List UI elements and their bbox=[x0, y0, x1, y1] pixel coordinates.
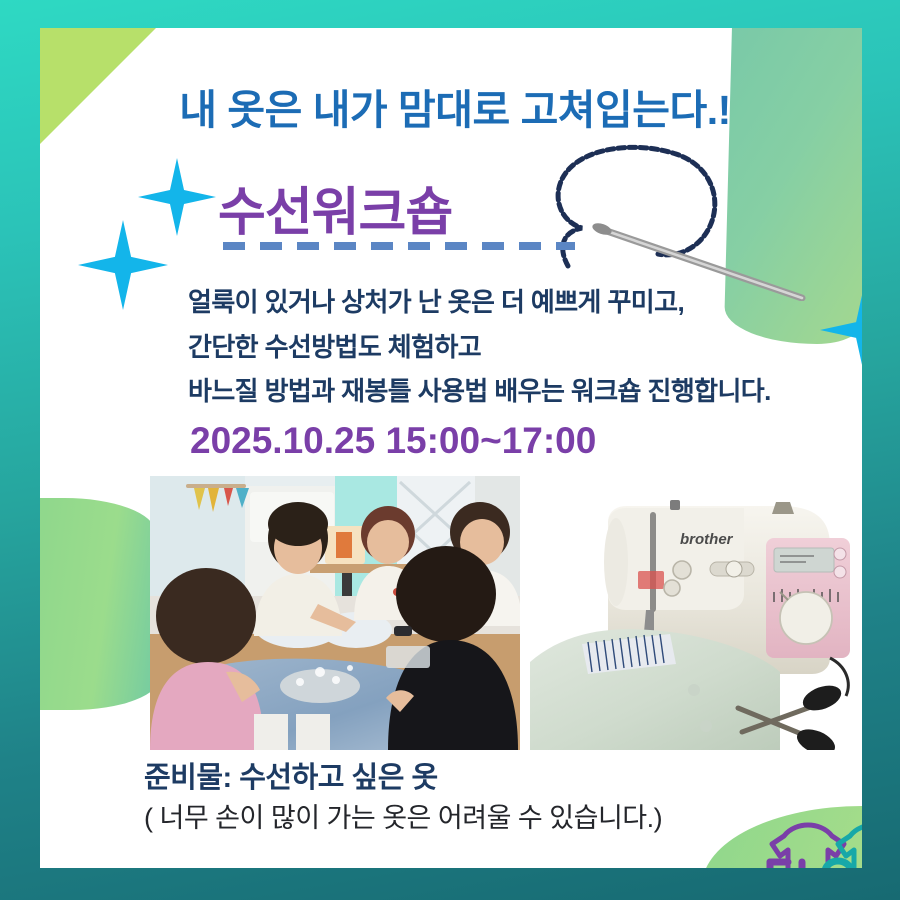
sparkle-star-icon bbox=[78, 220, 168, 310]
svg-text:brother: brother bbox=[680, 531, 734, 548]
description-block: 얼룩이 있거나 상처가 난 옷은 더 예쁘게 꾸미고, 간단한 수선방법도 체험… bbox=[188, 280, 862, 414]
workshop-participants-photo bbox=[150, 476, 520, 750]
poster-subtitle: 수선워크숍 bbox=[218, 170, 452, 245]
poster-root: 내 옷은 내가 맘대로 고쳐입는다.! 수선워크숍 얼룩이 있거나 상처가 난 … bbox=[0, 0, 900, 900]
green-band-left bbox=[40, 498, 162, 710]
needle-and-thread-icon bbox=[540, 136, 830, 301]
poster-card: 내 옷은 내가 맘대로 고쳐입는다.! 수선워크숍 얼룩이 있거나 상처가 난 … bbox=[40, 28, 862, 868]
preparation-sub-note: ( 너무 손이 많이 가는 옷은 어려울 수 있습니다.) bbox=[144, 796, 662, 835]
page-title: 내 옷은 내가 맘대로 고쳐입는다.! bbox=[95, 76, 815, 136]
event-datetime: 2025.10.25 15:00~17:00 bbox=[190, 420, 596, 462]
sparkle-star-icon bbox=[138, 158, 216, 236]
sewing-machine-photo: brother bbox=[530, 476, 860, 750]
description-line: 얼룩이 있거나 상처가 난 옷은 더 예쁘게 꾸미고, bbox=[188, 280, 862, 325]
preparation-note: 준비물: 수선하고 싶은 옷 bbox=[144, 754, 438, 796]
description-line: 간단한 수선방법도 체험하고 bbox=[188, 325, 862, 370]
organization-logo: 연구소 bbox=[758, 820, 862, 868]
dashed-divider bbox=[223, 242, 575, 250]
description-line: 바느질 방법과 재봉틀 사용법 배우는 워크숍 진행합니다. bbox=[188, 369, 862, 414]
